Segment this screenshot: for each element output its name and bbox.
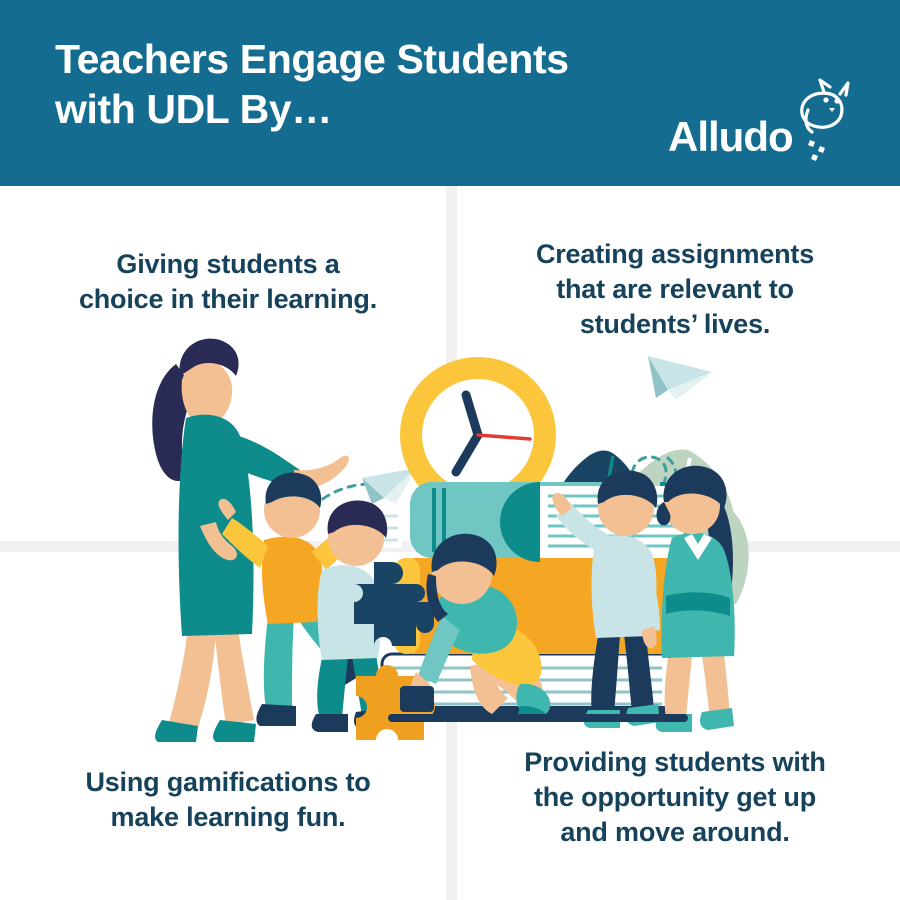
quadrant-text-top-right: Creating assignments that are relevant t… (468, 237, 882, 342)
brand-logo[interactable]: Alludo (668, 92, 858, 164)
quadrant-line: make learning fun. (18, 800, 438, 835)
girl-figure (656, 466, 735, 732)
page-title-line1: Teachers Engage Students (55, 36, 569, 82)
page-title: Teachers Engage Students with UDL By… (55, 34, 675, 134)
quadrant-line: the opportunity get up (468, 780, 882, 815)
quadrant-line: and move around. (468, 815, 882, 850)
quadrant-line: students’ lives. (468, 307, 882, 342)
page-title-line2: with UDL By… (55, 84, 675, 134)
quadrant-line: Giving students a (18, 247, 438, 282)
brand-logo-text: Alludo (668, 116, 793, 158)
header-banner: Teachers Engage Students with UDL By… Al… (0, 0, 900, 186)
quadrant-line: Creating assignments (468, 237, 882, 272)
floor-accent (388, 714, 688, 722)
quadrant-line: Providing students with (468, 745, 882, 780)
quadrant-text-top-left: Giving students a choice in their learni… (18, 247, 438, 317)
infographic-poster: Teachers Engage Students with UDL By… Al… (0, 0, 900, 900)
quadrant-text-bottom-left: Using gamifications to make learning fun… (18, 765, 438, 835)
quadrant-line: choice in their learning. (18, 282, 438, 317)
quadrant-text-bottom-right: Providing students with the opportunity … (468, 745, 882, 850)
quadrant-line: Using gamifications to (18, 765, 438, 800)
alludo-dog-icon (784, 70, 858, 162)
quadrant-line: that are relevant to (468, 272, 882, 307)
